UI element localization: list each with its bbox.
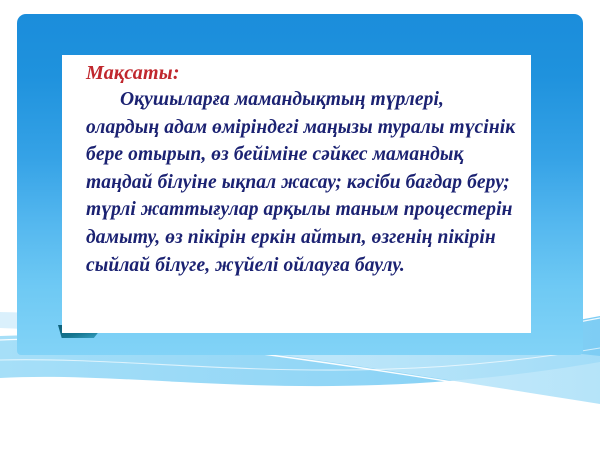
goal-body-text: Оқушыларға мамандықтың түрлері, олардың … xyxy=(86,86,521,279)
content-card: Мақсаты: Оқушыларға мамандықтың түрлері,… xyxy=(62,55,531,333)
goal-body-content: Оқушыларға мамандықтың түрлері, олардың … xyxy=(86,89,515,276)
slide-canvas: Мақсаты: Оқушыларға мамандықтың түрлері,… xyxy=(0,0,600,450)
goal-heading: Мақсаты: xyxy=(86,61,521,86)
